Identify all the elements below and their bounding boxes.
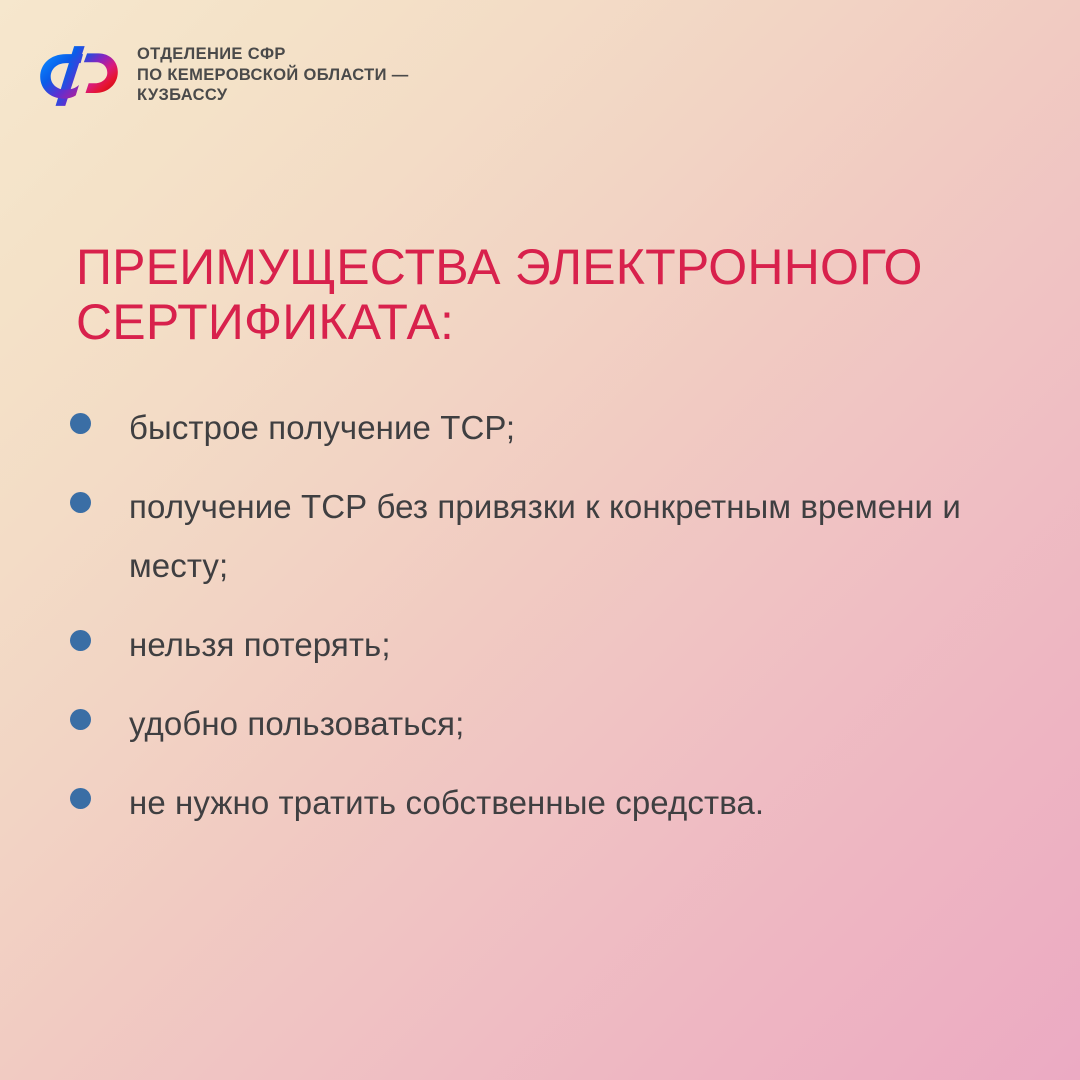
list-item: нельзя потерять;	[70, 615, 1000, 674]
list-item: удобно пользоваться;	[70, 694, 1000, 753]
bullet-dot-icon	[70, 630, 91, 651]
list-item-label: не нужно тратить собственные средства.	[129, 773, 1000, 832]
bullet-dot-icon	[70, 413, 91, 434]
org-line-1: ОТДЕЛЕНИЕ СФР	[137, 44, 409, 65]
list-item-label: быстрое получение ТСР;	[129, 398, 1000, 457]
organisation-name: ОТДЕЛЕНИЕ СФР ПО КЕМЕРОВСКОЙ ОБЛАСТИ — К…	[137, 36, 409, 106]
list-item-label: удобно пользоваться;	[129, 694, 1000, 753]
list-item: получение ТСР без привязки к конкретным …	[70, 477, 1000, 595]
bullet-dot-icon	[70, 709, 91, 730]
poster-canvas: ОТДЕЛЕНИЕ СФР ПО КЕМЕРОВСКОЙ ОБЛАСТИ — К…	[0, 0, 1080, 1080]
list-item: быстрое получение ТСР;	[70, 398, 1000, 457]
list-item: не нужно тратить собственные средства.	[70, 773, 1000, 832]
brand-header: ОТДЕЛЕНИЕ СФР ПО КЕМЕРОВСКОЙ ОБЛАСТИ — К…	[38, 36, 409, 114]
org-line-2: ПО КЕМЕРОВСКОЙ ОБЛАСТИ —	[137, 65, 409, 86]
bullet-dot-icon	[70, 788, 91, 809]
org-line-3: КУЗБАССУ	[137, 85, 409, 106]
list-item-label: получение ТСР без привязки к конкретным …	[129, 477, 1000, 595]
page-title: ПРЕИМУЩЕСТВА ЭЛЕКТРОННОГО СЕРТИФИКАТА:	[76, 240, 956, 350]
benefits-list: быстрое получение ТСР; получение ТСР без…	[70, 398, 1000, 832]
sfr-logo-icon	[38, 38, 120, 114]
bullet-dot-icon	[70, 492, 91, 513]
list-item-label: нельзя потерять;	[129, 615, 1000, 674]
